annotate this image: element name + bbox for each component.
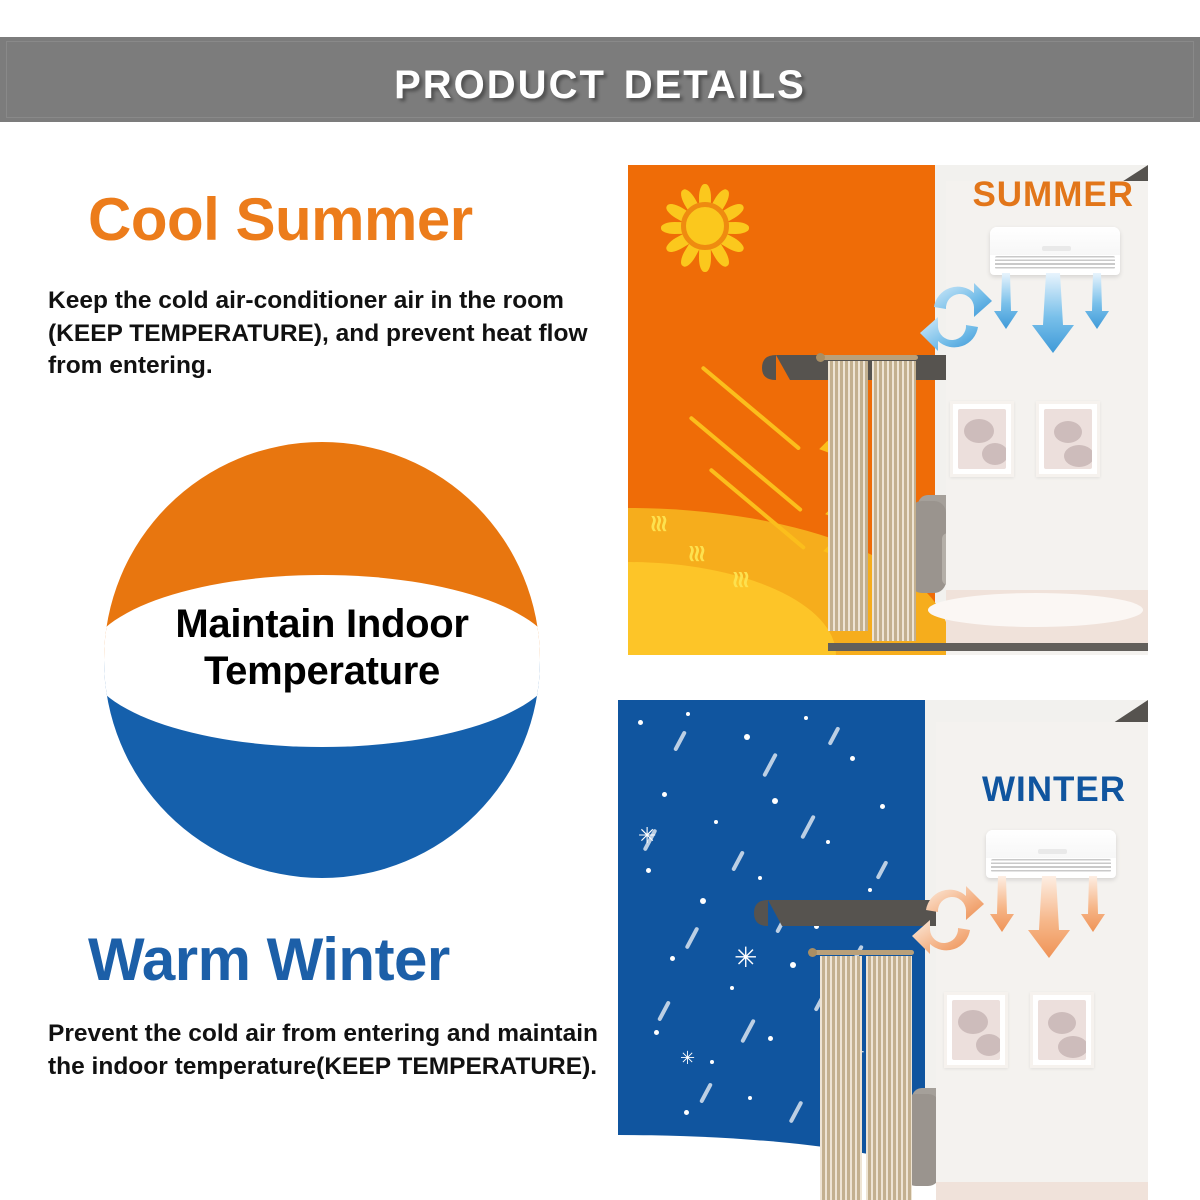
badge-line-2: Temperature (104, 648, 540, 695)
air-conditioner-icon (990, 227, 1120, 275)
badge-text: Maintain Indoor Temperature (104, 601, 540, 695)
header-banner: Product Details (0, 37, 1200, 122)
winter-illustration-panel: ✳ ✳ ✳ ✳ WINTER (618, 700, 1148, 1200)
warm-winter-paragraph: Prevent the cold air from entering and m… (48, 1018, 608, 1083)
air-conditioner-icon (986, 830, 1116, 878)
circulation-arrows-icon (910, 880, 986, 962)
airflow-arrows-icon (976, 876, 1126, 968)
wall-art-left (944, 992, 1008, 1068)
rug (928, 593, 1143, 627)
product-details-page: Product Details Cool Summer Keep the col… (0, 0, 1200, 1200)
left-content-column: Cool Summer Keep the cold air-conditione… (0, 130, 615, 1200)
airflow-arrows-icon (980, 273, 1130, 363)
wall-art-right (1030, 992, 1094, 1068)
cool-summer-heading: Cool Summer (88, 190, 608, 250)
floor (936, 1182, 1148, 1200)
winter-label: WINTER (982, 770, 1126, 810)
maintain-temperature-badge: Maintain Indoor Temperature (104, 442, 540, 878)
circulation-arrows-icon (918, 277, 994, 357)
badge-line-1: Maintain Indoor (104, 601, 540, 648)
summer-illustration-panel: ≋ ≋ ≋ SUMMER (628, 165, 1148, 655)
cool-summer-paragraph: Keep the cold air-conditioner air in the… (48, 285, 604, 383)
summer-label: SUMMER (972, 175, 1134, 215)
warm-winter-heading: Warm Winter (88, 930, 628, 990)
wall-art-right (1036, 401, 1100, 477)
baseboard (828, 643, 1148, 651)
wall-art-left (950, 401, 1014, 477)
page-title: Product Details (394, 51, 806, 108)
